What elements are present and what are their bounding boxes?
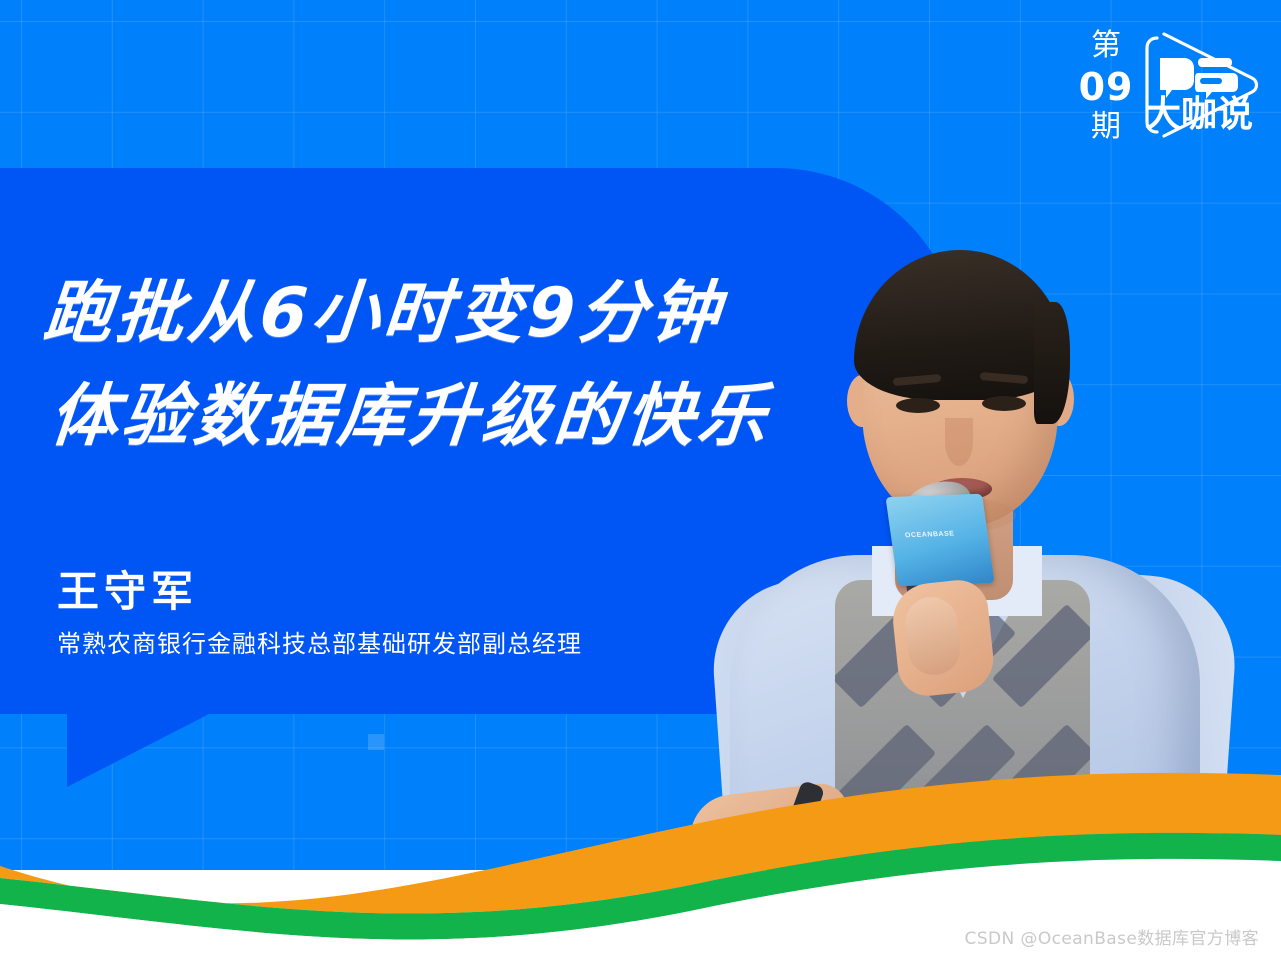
headline-line-2: 体验数据库升级的快乐: [39, 365, 868, 468]
issue-badge: 第 09 期: [1083, 28, 1129, 146]
logo-wordmark: 大咖说: [1145, 94, 1253, 135]
microphone-flag: OCEANBASE: [886, 494, 995, 586]
headline-line-1: 跑批从6小时变9分钟: [39, 262, 868, 365]
eye-right: [982, 396, 1026, 411]
issue-prefix: 第: [1091, 28, 1121, 65]
logo-wordmark-text: 大咖说: [1145, 94, 1253, 135]
poster-canvas: OCEANBASE 跑批从6小时变9分钟 体验数据库升级的快乐 王守军 常熟农商…: [0, 0, 1281, 961]
microphone-flag-label: OCEANBASE: [905, 531, 955, 540]
nose: [945, 418, 973, 466]
speaker-role: 常熟农商银行金融科技总部基础研发部副总经理: [57, 624, 582, 659]
csdn-watermark: CSDN @OceanBase数据库官方博客: [965, 924, 1259, 949]
eye-left: [896, 398, 940, 413]
db-speech-bubbles: [1160, 58, 1238, 99]
speaker-name: 王守军: [57, 558, 198, 619]
hand-holding-microphone: [889, 577, 996, 698]
issue-suffix: 期: [1091, 109, 1121, 146]
hair: [854, 250, 1066, 400]
headline-block: 跑批从6小时变9分钟 体验数据库升级的快乐: [44, 262, 864, 469]
issue-number: 09: [1079, 65, 1134, 110]
daka-shuo-logo: 大咖说: [1140, 18, 1268, 152]
